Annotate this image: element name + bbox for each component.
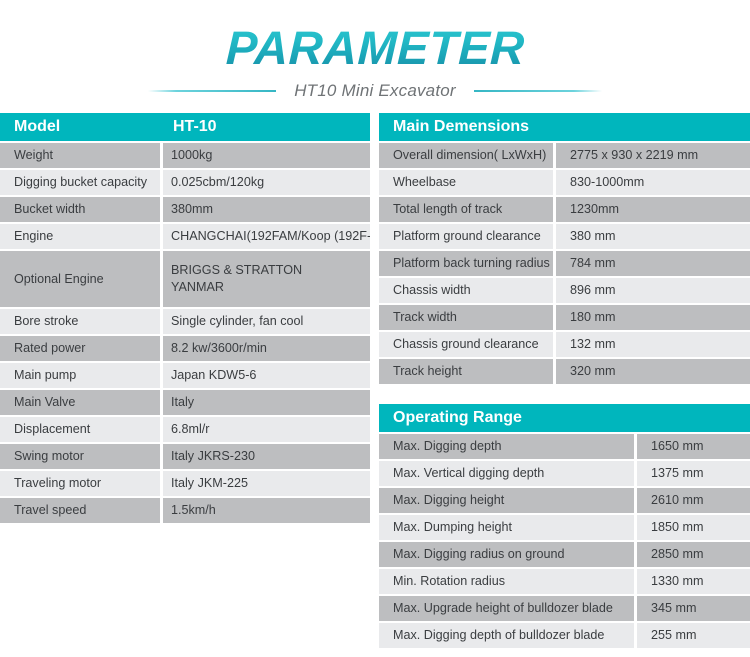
- model-table-column: Model HT-10 Weight1000kgDigging bucket c…: [0, 113, 370, 525]
- table-row: Max. Vertical digging depth1375 mm: [379, 461, 750, 488]
- row-key: Max. Digging depth: [379, 434, 637, 461]
- table-row: Max. Digging depth1650 mm: [379, 434, 750, 461]
- row-key: Platform ground clearance: [379, 224, 556, 251]
- row-value: 320 mm: [556, 359, 750, 386]
- row-value: 1.5km/h: [163, 498, 370, 525]
- table-row: Total length of track1230mm: [379, 197, 750, 224]
- row-value: 2775 x 930 x 2219 mm: [556, 143, 750, 170]
- row-value: 1650 mm: [637, 434, 750, 461]
- table-row: Weight1000kg: [0, 143, 370, 170]
- row-value: 345 mm: [637, 596, 750, 623]
- row-value: Single cylinder, fan cool: [163, 309, 370, 336]
- model-spec-table: Model HT-10 Weight1000kgDigging bucket c…: [0, 113, 370, 525]
- row-key: Track width: [379, 305, 556, 332]
- table-header-row: Model HT-10: [0, 113, 370, 143]
- table-row: Platform ground clearance380 mm: [379, 224, 750, 251]
- table-row: Max. Upgrade height of bulldozer blade34…: [379, 596, 750, 623]
- row-key: Total length of track: [379, 197, 556, 224]
- table-row: Platform back turning radius784 mm: [379, 251, 750, 278]
- main-dimensions-header: Main Demensions: [379, 113, 750, 143]
- row-key: Digging bucket capacity: [0, 170, 163, 197]
- row-key: Main pump: [0, 363, 163, 390]
- row-value: 830-1000mm: [556, 170, 750, 197]
- row-value: 1850 mm: [637, 515, 750, 542]
- table-row: Travel speed1.5km/h: [0, 498, 370, 525]
- row-key: Max. Digging radius on ground: [379, 542, 637, 569]
- row-key: Overall dimension( LxWxH): [379, 143, 556, 170]
- row-value: 6.8ml/r: [163, 417, 370, 444]
- row-key: Swing motor: [0, 444, 163, 471]
- table-row: Displacement6.8ml/r: [0, 417, 370, 444]
- table-row: Max. Digging radius on ground2850 mm: [379, 542, 750, 569]
- table-header-row: Main Demensions: [379, 113, 750, 143]
- row-value: Italy: [163, 390, 370, 417]
- decorative-line-right: [474, 90, 602, 92]
- row-key: Traveling motor: [0, 471, 163, 498]
- row-key: Platform back turning radius: [379, 251, 556, 278]
- table-row: Rated power8.2 kw/3600r/min: [0, 336, 370, 363]
- row-value: Italy JKM-225: [163, 471, 370, 498]
- row-value: 380 mm: [556, 224, 750, 251]
- row-value: 132 mm: [556, 332, 750, 359]
- table-row: Chassis ground clearance132 mm: [379, 332, 750, 359]
- operating-range-header: Operating Range: [379, 404, 750, 434]
- row-key: Rated power: [0, 336, 163, 363]
- row-key: Displacement: [0, 417, 163, 444]
- model-header-value: HT-10: [163, 113, 370, 143]
- operating-range-table: Operating Range Max. Digging depth1650 m…: [379, 404, 750, 650]
- row-value: 180 mm: [556, 305, 750, 332]
- main-dimensions-table: Main Demensions Overall dimension( LxWxH…: [379, 113, 750, 386]
- row-key: Travel speed: [0, 498, 163, 525]
- page-subtitle: HT10 Mini Excavator: [294, 81, 456, 101]
- right-tables-column: Main Demensions Overall dimension( LxWxH…: [379, 113, 750, 650]
- row-value: 255 mm: [637, 623, 750, 650]
- row-key: Max. Vertical digging depth: [379, 461, 637, 488]
- table-row: Max. Dumping height1850 mm: [379, 515, 750, 542]
- row-key: Bore stroke: [0, 309, 163, 336]
- table-row: Track width180 mm: [379, 305, 750, 332]
- table-gap: [379, 386, 750, 404]
- table-row: Swing motorItaly JKRS-230: [0, 444, 370, 471]
- row-value: 2850 mm: [637, 542, 750, 569]
- subtitle-row: HT10 Mini Excavator: [0, 81, 750, 101]
- row-value: 784 mm: [556, 251, 750, 278]
- table-row: Optional EngineBRIGGS & STRATTONYANMAR: [0, 251, 370, 309]
- row-key: Max. Upgrade height of bulldozer blade: [379, 596, 637, 623]
- row-key: Chassis width: [379, 278, 556, 305]
- table-row: Overall dimension( LxWxH)2775 x 930 x 22…: [379, 143, 750, 170]
- row-key: Max. Digging depth of bulldozer blade: [379, 623, 637, 650]
- row-value: 8.2 kw/3600r/min: [163, 336, 370, 363]
- row-key: Wheelbase: [379, 170, 556, 197]
- table-row: Main pumpJapan KDW5-6: [0, 363, 370, 390]
- table-row: EngineCHANGCHAI(192FAM/Koop (192F-1): [0, 224, 370, 251]
- table-row: Main ValveItaly: [0, 390, 370, 417]
- row-value: 1230mm: [556, 197, 750, 224]
- table-header-row: Operating Range: [379, 404, 750, 434]
- table-row: Max. Digging depth of bulldozer blade255…: [379, 623, 750, 650]
- row-key: Optional Engine: [0, 251, 163, 309]
- row-key: Main Valve: [0, 390, 163, 417]
- model-header-key: Model: [0, 113, 163, 143]
- page-header: PARAMETER HT10 Mini Excavator: [0, 0, 750, 101]
- row-key: Weight: [0, 143, 163, 170]
- row-value: 380mm: [163, 197, 370, 224]
- row-key: Max. Dumping height: [379, 515, 637, 542]
- row-value: 896 mm: [556, 278, 750, 305]
- row-key: Max. Digging height: [379, 488, 637, 515]
- row-key: Bucket width: [0, 197, 163, 224]
- table-row: Track height320 mm: [379, 359, 750, 386]
- row-value: BRIGGS & STRATTONYANMAR: [163, 251, 370, 309]
- row-value: Japan KDW5-6: [163, 363, 370, 390]
- row-key: Chassis ground clearance: [379, 332, 556, 359]
- row-value: 1330 mm: [637, 569, 750, 596]
- row-value: 0.025cbm/120kg: [163, 170, 370, 197]
- row-key: Min. Rotation radius: [379, 569, 637, 596]
- table-row: Traveling motorItaly JKM-225: [0, 471, 370, 498]
- table-row: Digging bucket capacity0.025cbm/120kg: [0, 170, 370, 197]
- row-value: 2610 mm: [637, 488, 750, 515]
- row-value: CHANGCHAI(192FAM/Koop (192F-1): [163, 224, 370, 251]
- decorative-line-left: [148, 90, 276, 92]
- table-row: Bucket width380mm: [0, 197, 370, 224]
- page-title: PARAMETER: [225, 24, 525, 72]
- row-value: Italy JKRS-230: [163, 444, 370, 471]
- table-row: Chassis width896 mm: [379, 278, 750, 305]
- row-key: Engine: [0, 224, 163, 251]
- row-key: Track height: [379, 359, 556, 386]
- row-value: 1375 mm: [637, 461, 750, 488]
- table-row: Wheelbase830-1000mm: [379, 170, 750, 197]
- table-row: Bore strokeSingle cylinder, fan cool: [0, 309, 370, 336]
- row-value: 1000kg: [163, 143, 370, 170]
- table-row: Max. Digging height2610 mm: [379, 488, 750, 515]
- table-row: Min. Rotation radius1330 mm: [379, 569, 750, 596]
